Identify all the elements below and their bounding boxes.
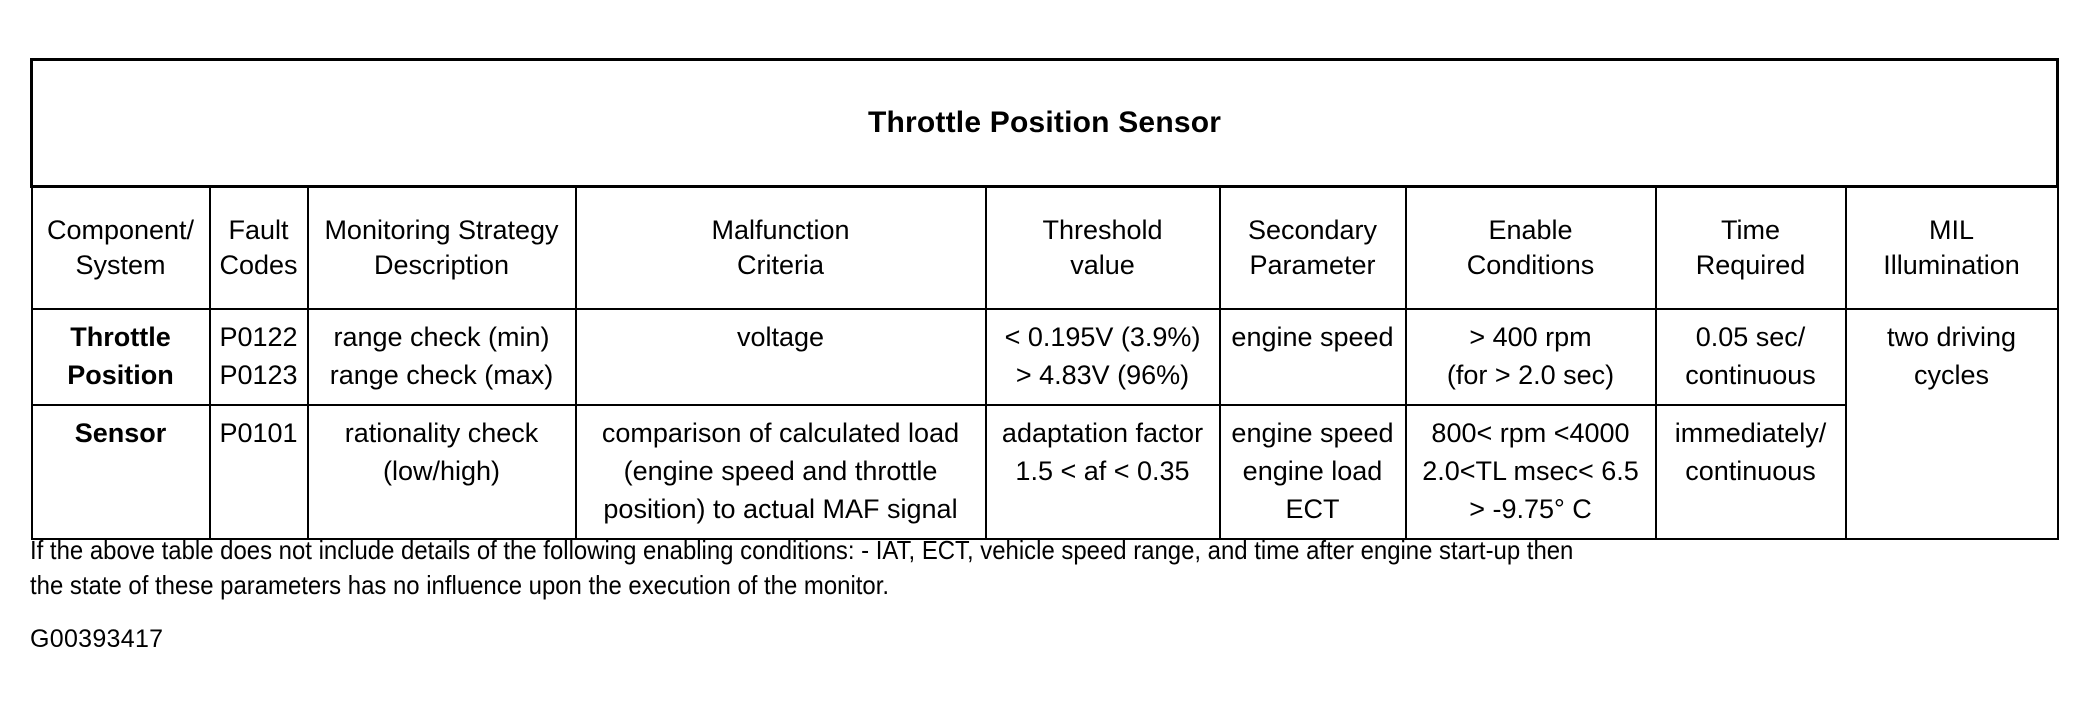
cell-line: immediately/: [1661, 414, 1841, 452]
header-line-1: Enable: [1410, 213, 1652, 248]
table-row: Sensor P0101 rationality check (low/high…: [32, 405, 2058, 539]
cell-line: voltage: [581, 318, 981, 356]
cell-line: engine load: [1225, 452, 1401, 490]
cell-line: (for > 2.0 sec): [1411, 356, 1651, 394]
cell-fault-codes: P0101: [210, 405, 308, 539]
cell-line: > 400 rpm: [1411, 318, 1651, 356]
cell-line: ECT: [1225, 490, 1401, 528]
column-header-monitoring-strategy: Monitoring Strategy Description: [308, 187, 576, 310]
column-header-threshold-value: Threshold value: [986, 187, 1220, 310]
cell-component-system: Sensor: [32, 405, 210, 539]
cell-line: < 0.195V (3.9%): [991, 318, 1215, 356]
header-line-2: Illumination: [1850, 248, 2054, 283]
table-footnote: If the above table does not include deta…: [30, 533, 1861, 603]
header-line-2: Conditions: [1410, 248, 1652, 283]
cell-fault-codes: P0122 P0123: [210, 309, 308, 405]
cell-line: > 4.83V (96%): [991, 356, 1215, 394]
cell-line: 800< rpm <4000: [1411, 414, 1651, 452]
header-line-1: Time: [1660, 213, 1842, 248]
cell-enable-conditions: 800< rpm <4000 2.0<TL msec< 6.5 > -9.75°…: [1406, 405, 1656, 539]
column-header-time-required: Time Required: [1656, 187, 1846, 310]
cell-line: P0122: [215, 318, 303, 356]
cell-component-system: Throttle Position: [32, 309, 210, 405]
cell-line: continuous: [1661, 356, 1841, 394]
header-line-2: Parameter: [1224, 248, 1402, 283]
header-line-2: Codes: [214, 248, 304, 283]
header-line-1: Fault: [214, 213, 304, 248]
table-title: Throttle Position Sensor: [32, 60, 2058, 187]
cell-line: 2.0<TL msec< 6.5: [1411, 452, 1651, 490]
cell-line: P0123: [215, 356, 303, 394]
header-line-2: Description: [312, 248, 572, 283]
column-header-secondary-parameter: Secondary Parameter: [1220, 187, 1406, 310]
cell-line: two driving: [1851, 318, 2053, 356]
cell-line: (engine speed and throttle: [581, 452, 981, 490]
cell-line: (low/high): [313, 452, 571, 490]
cell-line: cycles: [1851, 356, 2053, 394]
cell-line: engine speed: [1225, 318, 1401, 356]
table-title-row: Throttle Position Sensor: [32, 60, 2058, 187]
cell-secondary-parameter: engine speed: [1220, 309, 1406, 405]
spec-table-container: Throttle Position Sensor Component/ Syst…: [30, 58, 2056, 540]
cell-line: range check (max): [313, 356, 571, 394]
cell-line: P0101: [215, 414, 303, 452]
header-line-2: Criteria: [580, 248, 982, 283]
header-line-1: MIL: [1850, 213, 2054, 248]
header-line-1: Secondary: [1224, 213, 1402, 248]
column-header-component-system: Component/ System: [32, 187, 210, 310]
cell-time-required: immediately/ continuous: [1656, 405, 1846, 539]
cell-enable-conditions: > 400 rpm (for > 2.0 sec): [1406, 309, 1656, 405]
figure-id: G00393417: [30, 625, 163, 654]
cell-threshold-value: < 0.195V (3.9%) > 4.83V (96%): [986, 309, 1220, 405]
cell-line: range check (min): [313, 318, 571, 356]
document-page: Throttle Position Sensor Component/ Syst…: [0, 0, 2096, 726]
header-line-1: Component/: [36, 213, 206, 248]
cell-line: Position: [37, 356, 205, 394]
table-row: Throttle Position P0122 P0123 range chec…: [32, 309, 2058, 405]
footnote-line-1: If the above table does not include deta…: [30, 533, 1861, 568]
cell-threshold-value: adaptation factor 1.5 < af < 0.35: [986, 405, 1220, 539]
column-header-malfunction-criteria: Malfunction Criteria: [576, 187, 986, 310]
header-line-1: Malfunction: [580, 213, 982, 248]
cell-line: Throttle: [37, 318, 205, 356]
table-header-row: Component/ System Fault Codes Monitoring…: [32, 187, 2058, 310]
column-header-mil-illumination: MIL Illumination: [1846, 187, 2058, 310]
throttle-position-sensor-table: Throttle Position Sensor Component/ Syst…: [30, 58, 2059, 540]
cell-line: continuous: [1661, 452, 1841, 490]
footnote-line-2: the state of these parameters has no inf…: [30, 568, 1861, 603]
cell-time-required: 0.05 sec/ continuous: [1656, 309, 1846, 405]
cell-malfunction-criteria: voltage: [576, 309, 986, 405]
cell-line: 1.5 < af < 0.35: [991, 452, 1215, 490]
header-line-1: Threshold: [990, 213, 1216, 248]
header-line-1: Monitoring Strategy: [312, 213, 572, 248]
cell-malfunction-criteria: comparison of calculated load (engine sp…: [576, 405, 986, 539]
cell-mil-illumination: two driving cycles: [1846, 309, 2058, 539]
cell-monitoring-strategy: rationality check (low/high): [308, 405, 576, 539]
cell-line: position) to actual MAF signal: [581, 490, 981, 528]
cell-line: comparison of calculated load: [581, 414, 981, 452]
cell-line: adaptation factor: [991, 414, 1215, 452]
header-line-2: System: [36, 248, 206, 283]
header-line-2: value: [990, 248, 1216, 283]
column-header-fault-codes: Fault Codes: [210, 187, 308, 310]
cell-line: 0.05 sec/: [1661, 318, 1841, 356]
cell-secondary-parameter: engine speed engine load ECT: [1220, 405, 1406, 539]
cell-line: Sensor: [37, 414, 205, 452]
cell-line: > -9.75° C: [1411, 490, 1651, 528]
cell-monitoring-strategy: range check (min) range check (max): [308, 309, 576, 405]
cell-line: rationality check: [313, 414, 571, 452]
column-header-enable-conditions: Enable Conditions: [1406, 187, 1656, 310]
header-line-2: Required: [1660, 248, 1842, 283]
cell-line: engine speed: [1225, 414, 1401, 452]
